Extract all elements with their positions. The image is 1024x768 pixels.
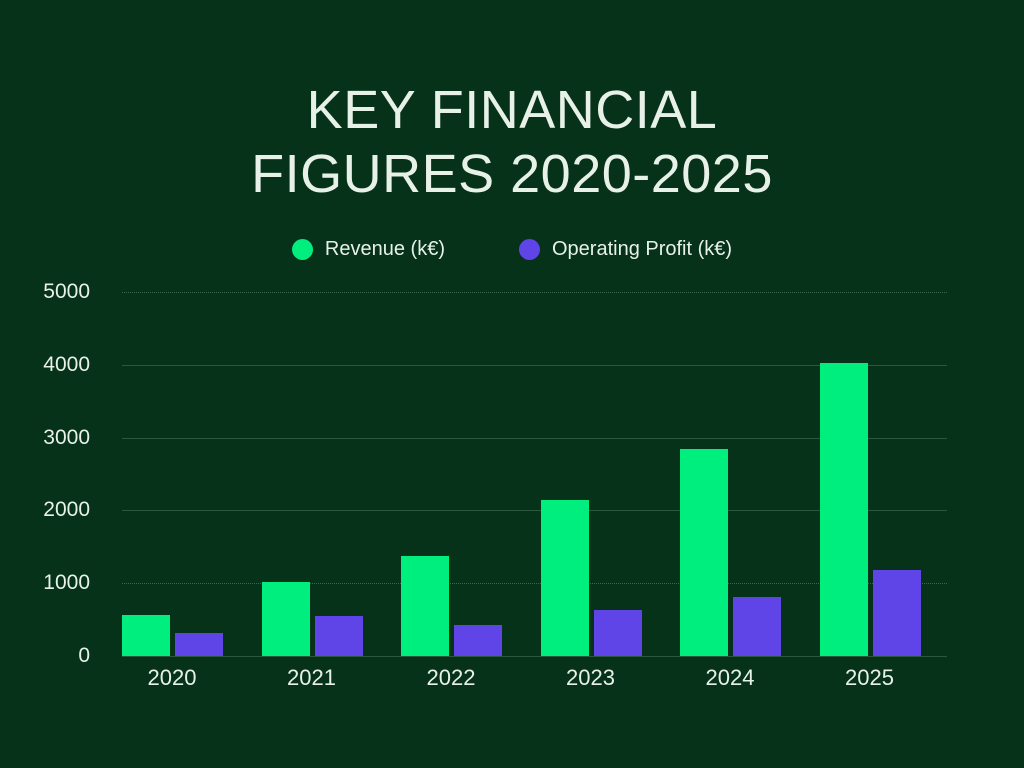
y-axis-tick-3000: 3000 [0, 427, 90, 448]
chart-bars [122, 270, 947, 656]
x-axis-tick-2022: 2022 [381, 666, 521, 690]
bar-operating-profit-2024[interactable] [733, 597, 781, 656]
bar-group-2021 [262, 270, 363, 656]
bar-revenue-2020[interactable] [122, 615, 170, 656]
y-axis-tick-2000: 2000 [0, 499, 90, 520]
x-axis-line [122, 656, 947, 657]
y-axis-tick-5000: 5000 [0, 281, 90, 302]
legend-label-revenue: Revenue (k€) [325, 238, 445, 260]
bar-operating-profit-2025[interactable] [873, 570, 921, 656]
bar-group-2022 [401, 270, 502, 656]
x-axis-tick-2025: 2025 [800, 666, 940, 690]
x-axis-tick-2024: 2024 [660, 666, 800, 690]
legend-item-revenue[interactable]: Revenue (k€) [292, 238, 445, 260]
chart-legend: Revenue (k€) Operating Profit (k€) [0, 238, 1024, 260]
y-axis-tick-0: 0 [0, 645, 90, 666]
slide-canvas: KEY FINANCIAL FIGURES 2020-2025 Revenue … [0, 0, 1024, 768]
bar-revenue-2023[interactable] [541, 500, 589, 656]
bar-revenue-2024[interactable] [680, 449, 728, 656]
bar-revenue-2022[interactable] [401, 556, 449, 656]
bar-operating-profit-2023[interactable] [594, 610, 642, 656]
bar-operating-profit-2020[interactable] [175, 633, 223, 656]
bar-group-2025 [820, 270, 921, 656]
bar-chart: 010002000300040005000 202020212022202320… [0, 270, 1024, 690]
bar-group-2023 [541, 270, 642, 656]
bar-revenue-2025[interactable] [820, 363, 868, 656]
legend-dot-revenue-icon [292, 239, 313, 260]
x-axis-tick-2020: 2020 [102, 666, 242, 690]
page-title: KEY FINANCIAL FIGURES 2020-2025 [0, 78, 1024, 206]
legend-dot-profit-icon [519, 239, 540, 260]
x-axis-tick-2021: 2021 [242, 666, 382, 690]
bar-group-2024 [680, 270, 781, 656]
bar-group-2020 [122, 270, 223, 656]
x-axis-tick-2023: 2023 [521, 666, 661, 690]
legend-item-operating-profit[interactable]: Operating Profit (k€) [519, 238, 732, 260]
bar-operating-profit-2021[interactable] [315, 616, 363, 656]
y-axis-tick-4000: 4000 [0, 354, 90, 375]
legend-label-operating-profit: Operating Profit (k€) [552, 238, 732, 260]
bar-operating-profit-2022[interactable] [454, 625, 502, 656]
y-axis-tick-1000: 1000 [0, 572, 90, 593]
bar-revenue-2021[interactable] [262, 582, 310, 656]
